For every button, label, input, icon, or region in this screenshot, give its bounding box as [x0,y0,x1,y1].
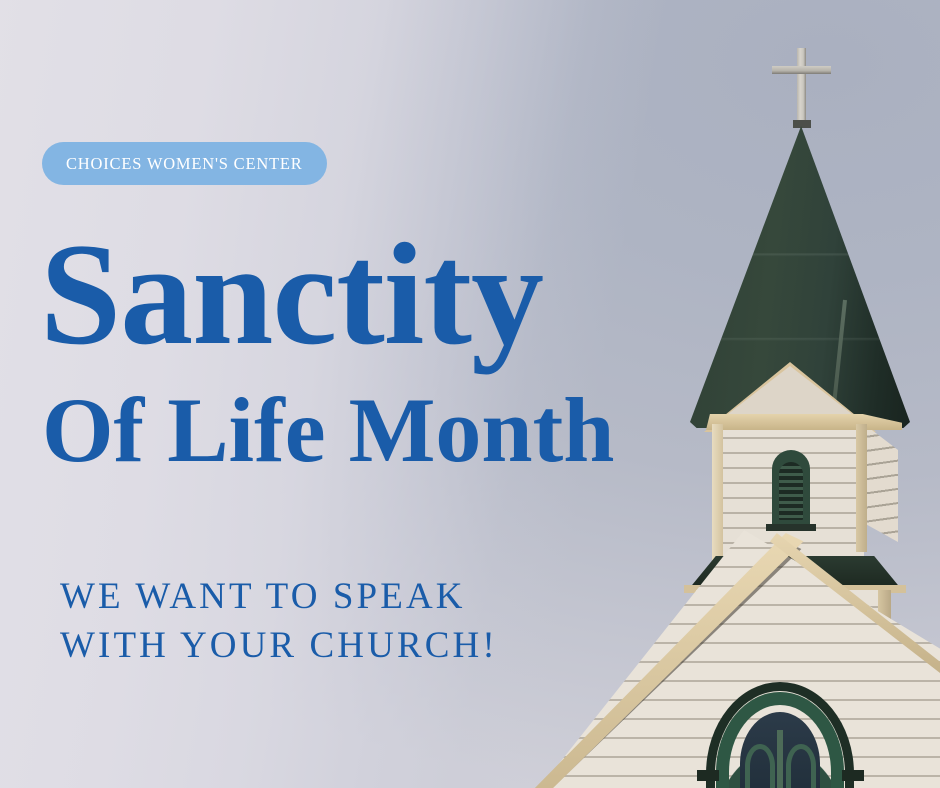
page-title: Sanctity [40,221,543,367]
tagline: WE WANT TO SPEAK WITH YOUR CHURCH! [60,573,498,671]
poster-canvas: CHOICES WOMEN'S CENTER Sanctity Of Life … [0,0,940,788]
organization-badge-label: CHOICES WOMEN'S CENTER [66,154,303,174]
page-subtitle: Of Life Month [42,384,614,476]
organization-badge: CHOICES WOMEN'S CENTER [42,142,327,185]
poster-content: CHOICES WOMEN'S CENTER Sanctity Of Life … [0,0,940,788]
tagline-line-2: WITH YOUR CHURCH! [60,622,498,671]
tagline-line-1: WE WANT TO SPEAK [60,573,498,622]
